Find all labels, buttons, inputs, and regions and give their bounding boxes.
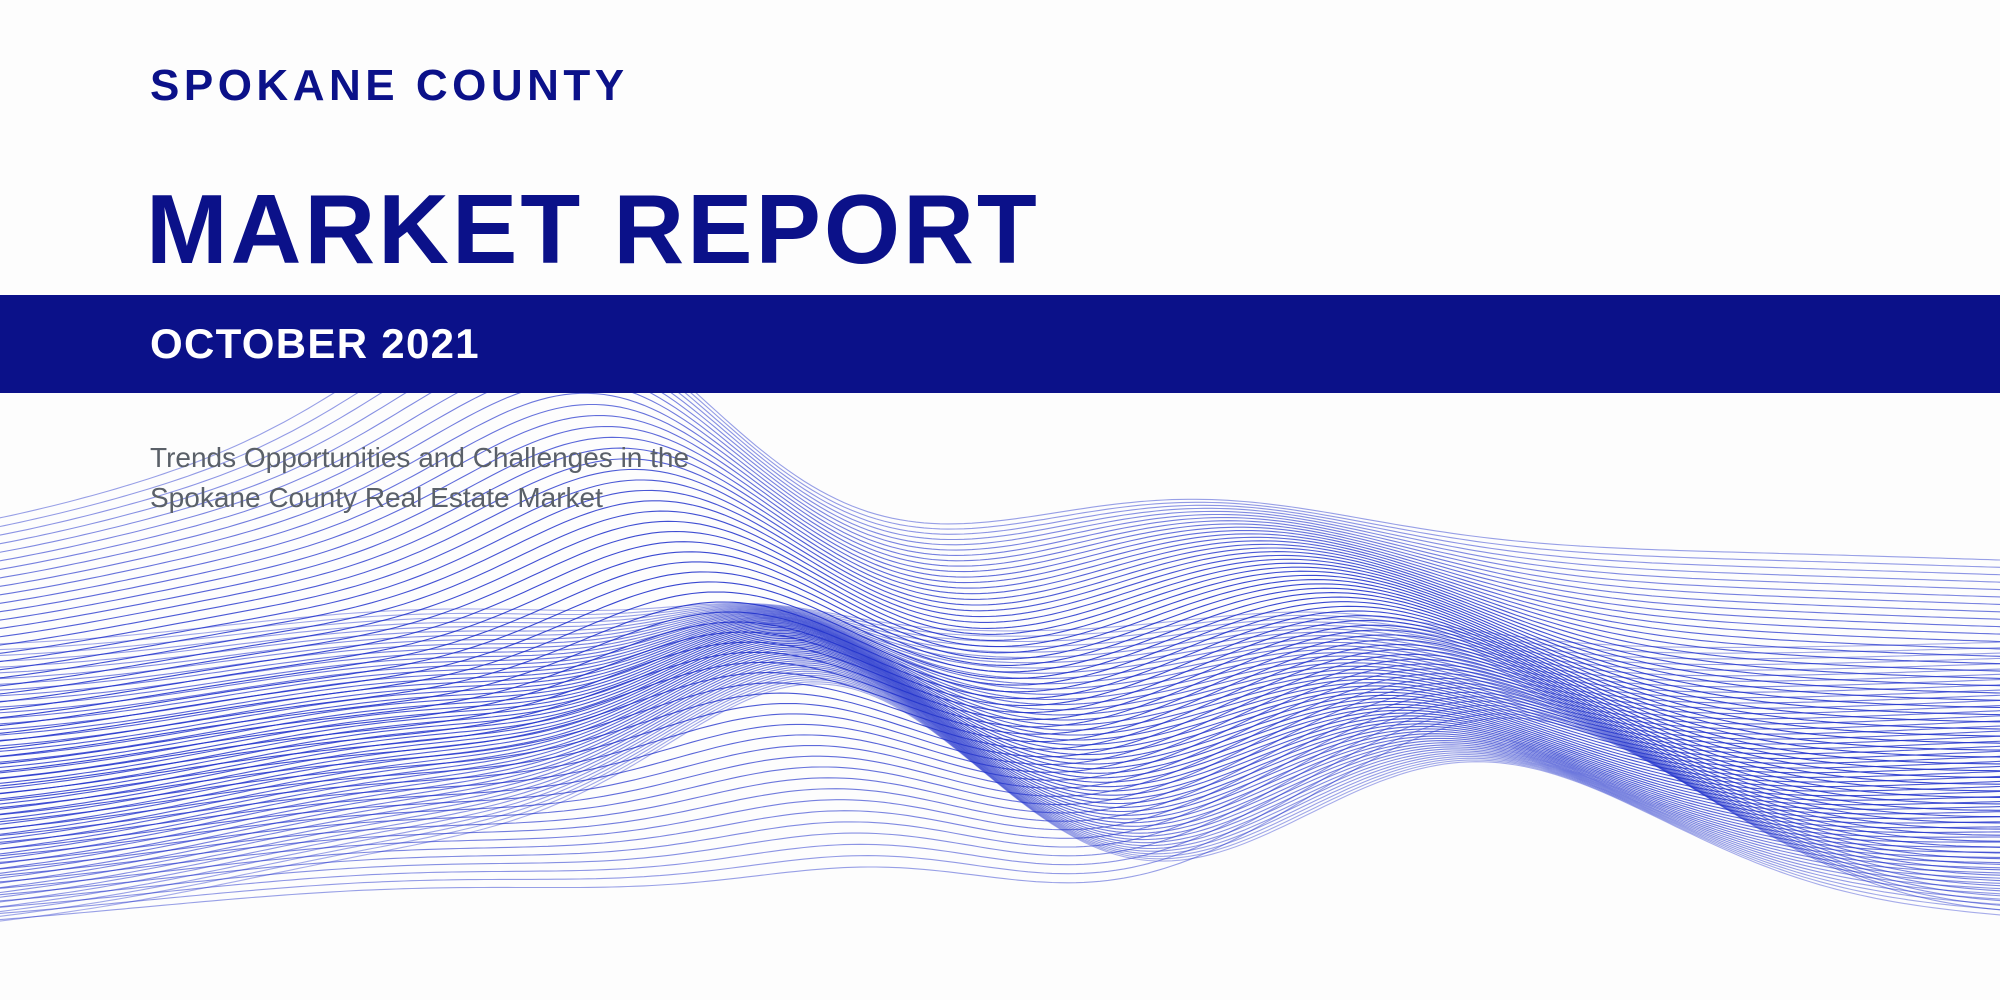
date-bar: OCTOBER 2021 <box>0 295 2000 393</box>
eyebrow-county-label: SPOKANE COUNTY <box>150 64 629 108</box>
date-label: OCTOBER 2021 <box>150 323 480 365</box>
cover-subtitle: Trends Opportunities and Challenges in t… <box>150 438 689 518</box>
report-cover-page: OCTOBER 2021 SPOKANE COUNTY MARKET REPOR… <box>0 0 2000 1000</box>
page-title: MARKET REPORT <box>146 180 1040 278</box>
